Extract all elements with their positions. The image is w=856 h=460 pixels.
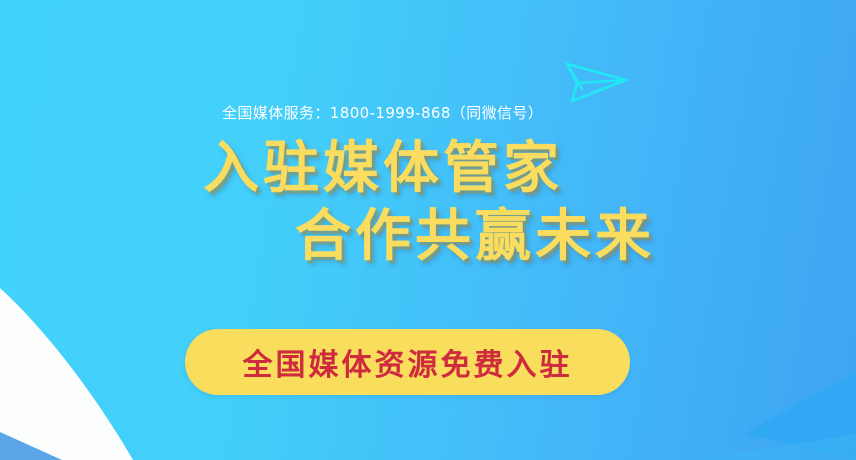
- contact-line: 全国媒体服务：1800-1999-868（同微信号）: [222, 103, 543, 123]
- headline-line-2: 合作共赢未来: [295, 206, 856, 268]
- headline: 入驻媒体管家 合作共赢未来: [0, 138, 856, 268]
- free-media-signup-button[interactable]: 全国媒体资源免费入驻: [185, 329, 630, 395]
- headline-line-1: 入驻媒体管家: [203, 138, 856, 200]
- white-swoosh: [0, 288, 133, 460]
- bottom-left-wedge: [0, 432, 62, 460]
- bottom-right-wedge-lower: [700, 434, 856, 460]
- promo-banner: 全国媒体服务：1800-1999-868（同微信号） 入驻媒体管家 合作共赢未来…: [0, 0, 856, 460]
- bottom-right-wedge: [744, 372, 856, 460]
- paper-plane-icon: [560, 50, 632, 106]
